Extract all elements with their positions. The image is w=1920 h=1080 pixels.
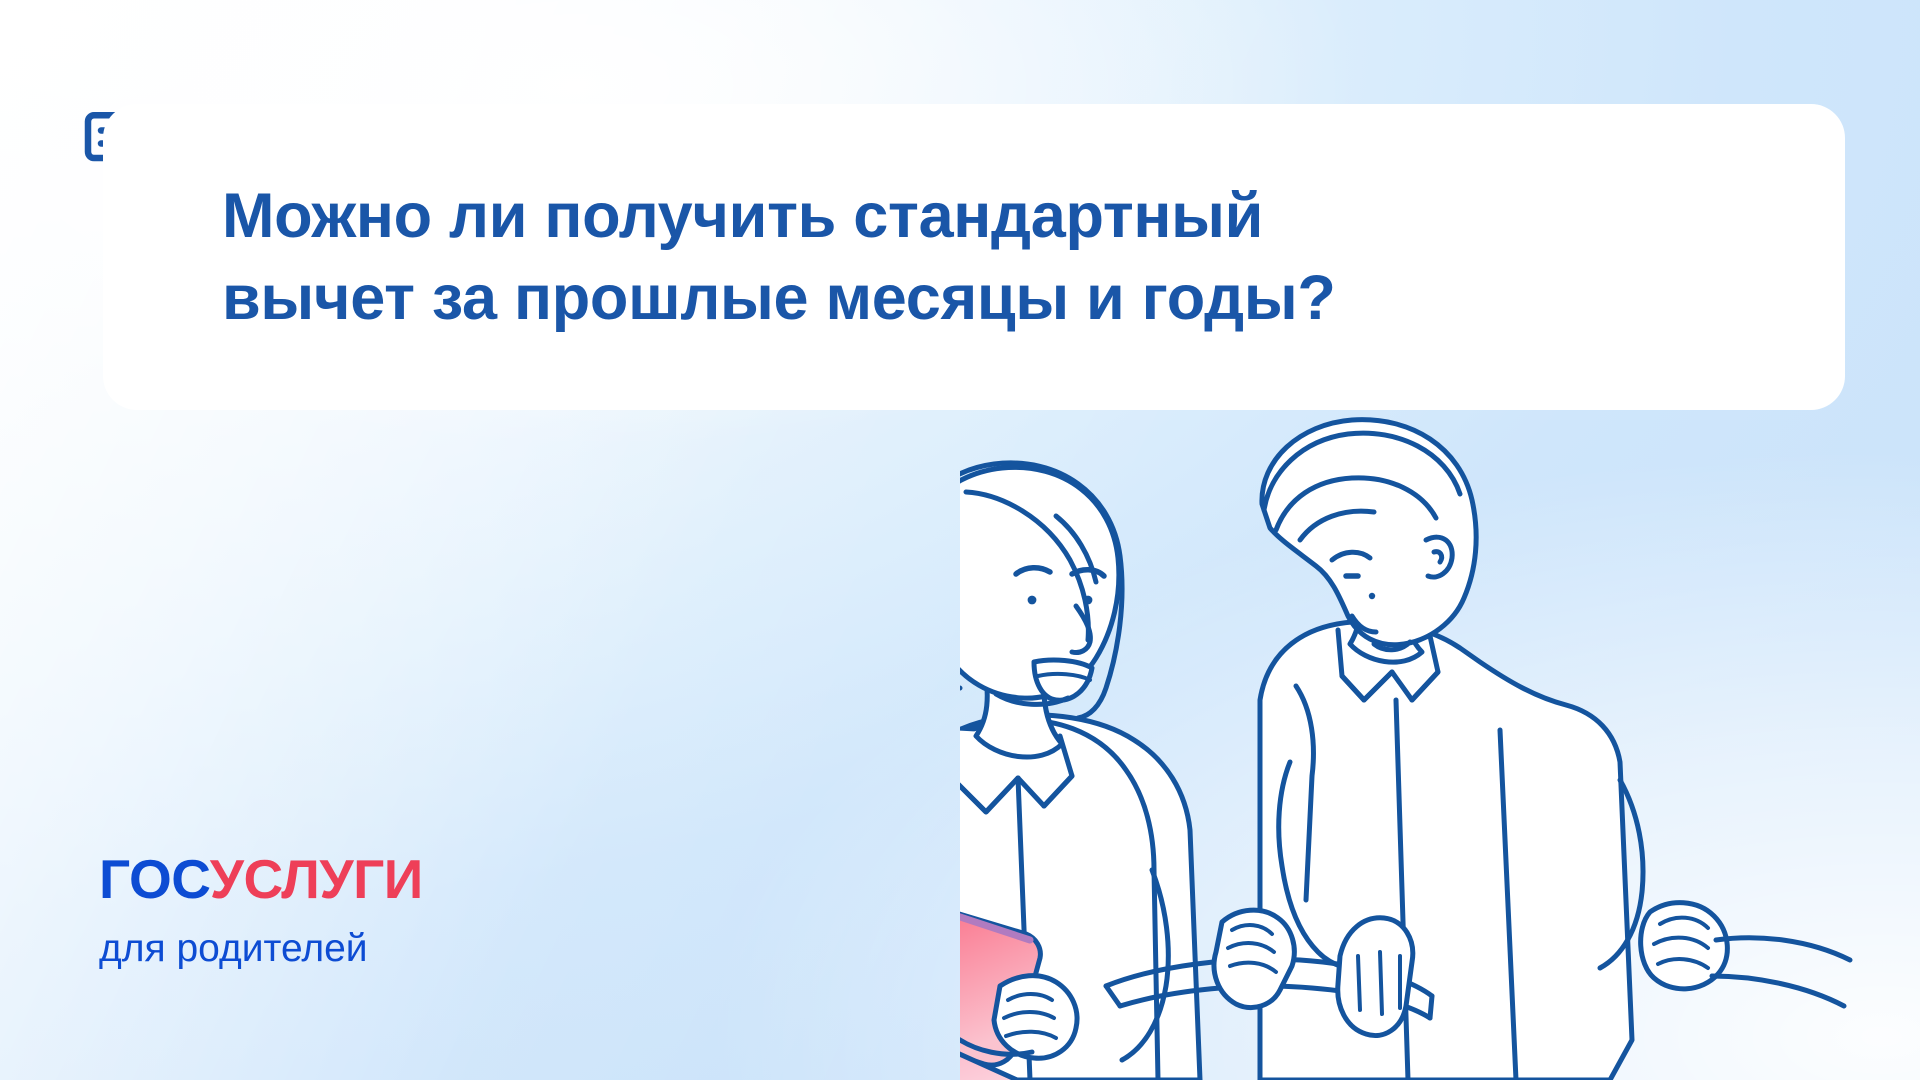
illustration-two-people-with-documents xyxy=(960,400,1920,1080)
logo-subtitle: для родителей xyxy=(99,929,423,968)
logo-word-gos: ГОС xyxy=(99,848,210,910)
logo-word-uslugi: УСЛУГИ xyxy=(210,848,423,910)
logo-wordmark: ГОСУСЛУГИ xyxy=(99,852,423,907)
page-title: Можно ли получить стандартный вычет за п… xyxy=(222,176,1722,340)
gosuslugi-logo: ГОСУСЛУГИ для родителей xyxy=(99,852,423,968)
banner-canvas: Можно ли получить стандартный вычет за п… xyxy=(0,0,1920,1080)
